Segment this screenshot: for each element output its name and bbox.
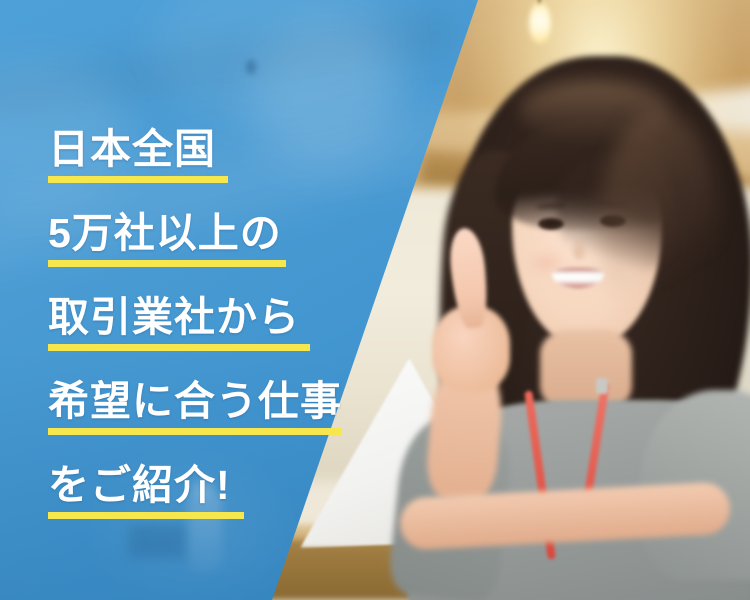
headline-underline-3: [48, 344, 310, 351]
headline-underline-5: [48, 512, 244, 519]
headline: 日本全国 5万社以上の 取引業社から 希望に合う仕事 をご紹介!: [48, 126, 378, 519]
headline-underline-1: [48, 176, 228, 183]
headline-line-5: をご紹介!: [48, 462, 378, 519]
headline-line-1: 日本全国: [48, 126, 378, 183]
lanyard-clip: [596, 378, 608, 394]
headline-line-5-text: をご紹介!: [48, 462, 378, 508]
hair-highlight: [600, 110, 720, 340]
headline-line-2: 5万社以上の: [48, 210, 378, 267]
hero-banner: 日本全国 5万社以上の 取引業社から 希望に合う仕事 をご紹介!: [0, 0, 750, 600]
headline-line-4: 希望に合う仕事: [48, 378, 378, 435]
pendant-light-bulb: [529, 2, 551, 44]
headline-underline-2: [48, 260, 286, 267]
headline-line-3-text: 取引業社から: [48, 294, 378, 340]
headline-line-3: 取引業社から: [48, 294, 378, 351]
panel-dark-speck: [246, 60, 256, 74]
headline-underline-4: [48, 428, 341, 435]
headline-line-2-text: 5万社以上の: [48, 210, 378, 256]
headline-line-4-text: 希望に合う仕事: [48, 378, 378, 424]
headline-line-1-text: 日本全国: [48, 126, 378, 172]
neck: [540, 330, 632, 410]
